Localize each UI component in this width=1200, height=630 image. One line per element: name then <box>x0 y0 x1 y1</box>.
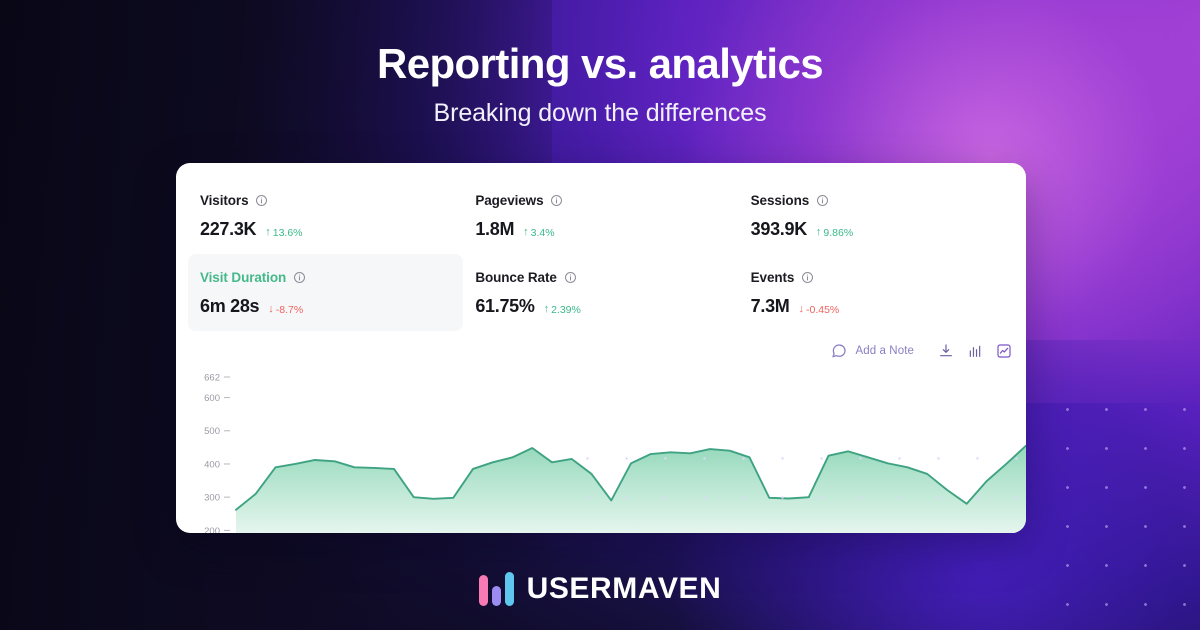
metric-value-row: 6m 28s↓-8.7% <box>200 296 451 317</box>
info-icon[interactable] <box>293 271 306 284</box>
y-axis-tick-label: 662 <box>204 372 220 383</box>
metric-arrow-icon: ↑ <box>265 227 271 238</box>
metric-header: Pageviews <box>475 193 726 208</box>
metric-cell-visitors[interactable]: Visitors227.3K↑13.6% <box>188 177 463 254</box>
metric-delta: ↑3.4% <box>523 227 554 239</box>
info-icon[interactable] <box>255 194 268 207</box>
add-a-note-button[interactable]: Add a Note <box>831 343 914 359</box>
metric-cell-pageviews[interactable]: Pageviews1.8M↑3.4% <box>463 177 738 254</box>
bar-chart-icon[interactable] <box>967 343 983 359</box>
y-axis-tick-label: 200 <box>204 526 220 533</box>
metric-value-row: 1.8M↑3.4% <box>475 219 726 240</box>
metric-value-row: 227.3K↑13.6% <box>200 219 451 240</box>
metric-cell-bounce-rate[interactable]: Bounce Rate61.75%↑2.39% <box>463 254 738 331</box>
metric-delta: ↑2.39% <box>544 304 581 316</box>
metric-delta: ↑9.86% <box>816 227 853 239</box>
header: Reporting vs. analytics Breaking down th… <box>0 0 1200 128</box>
metric-value: 7.3M <box>751 296 790 317</box>
metric-delta: ↓-0.45% <box>798 304 839 316</box>
metric-label: Sessions <box>751 193 809 208</box>
metric-value-row: 7.3M↓-0.45% <box>751 296 1002 317</box>
download-icon[interactable] <box>938 343 954 359</box>
metric-delta-value: 13.6% <box>273 227 303 239</box>
visit-duration-area-chart: 662600500400300200 <box>176 369 1026 533</box>
metric-value-row: 61.75%↑2.39% <box>475 296 726 317</box>
y-axis-tick-label: 600 <box>204 393 220 404</box>
metric-header: Visitors <box>200 193 451 208</box>
logo-wordmark: USERMAVEN <box>527 572 722 606</box>
metric-delta-value: -0.45% <box>806 304 839 316</box>
logo-bar-blue <box>505 572 514 606</box>
metric-label: Pageviews <box>475 193 543 208</box>
logo-bar-pink <box>479 575 488 606</box>
metrics-grid: Visitors227.3K↑13.6%Pageviews1.8M↑3.4%Se… <box>176 163 1026 331</box>
add-a-note-label: Add a Note <box>855 345 914 357</box>
page-title: Reporting vs. analytics <box>0 40 1200 88</box>
y-axis-tick-label: 500 <box>204 426 220 437</box>
metric-value: 393.9K <box>751 219 807 240</box>
metric-value: 6m 28s <box>200 296 259 317</box>
info-icon[interactable] <box>801 271 814 284</box>
chart-area-fill <box>236 446 1026 533</box>
metric-cell-events[interactable]: Events7.3M↓-0.45% <box>739 254 1014 331</box>
chart-area: 662600500400300200 <box>176 369 1026 533</box>
metric-arrow-icon: ↓ <box>268 304 274 315</box>
chart-toolbar: Add a Note <box>176 337 1026 359</box>
metric-header: Sessions <box>751 193 1002 208</box>
y-axis-tick-label: 300 <box>204 493 220 504</box>
page-subtitle: Breaking down the differences <box>0 99 1200 128</box>
metric-label: Bounce Rate <box>475 270 556 285</box>
metric-label: Events <box>751 270 795 285</box>
metric-cell-visit-duration[interactable]: Visit Duration6m 28s↓-8.7% <box>188 254 463 331</box>
chart-action-icons <box>938 343 1012 359</box>
metric-delta: ↓-8.7% <box>268 304 303 316</box>
logo-bar-purple <box>492 586 501 606</box>
metric-cell-sessions[interactable]: Sessions393.9K↑9.86% <box>739 177 1014 254</box>
comment-icon <box>831 343 847 359</box>
usermaven-logo: USERMAVEN <box>0 572 1200 606</box>
metric-value: 227.3K <box>200 219 256 240</box>
metric-delta: ↑13.6% <box>265 227 302 239</box>
logo-bars <box>479 572 514 606</box>
metric-delta-value: 9.86% <box>823 227 853 239</box>
analytics-card: Visitors227.3K↑13.6%Pageviews1.8M↑3.4%Se… <box>176 163 1026 533</box>
metric-delta-value: 2.39% <box>551 304 581 316</box>
metric-arrow-icon: ↑ <box>544 304 550 315</box>
line-chart-icon[interactable] <box>996 343 1012 359</box>
y-axis-tick-label: 400 <box>204 459 220 470</box>
metric-header: Bounce Rate <box>475 270 726 285</box>
metric-delta-value: -8.7% <box>276 304 303 316</box>
metric-arrow-icon: ↑ <box>816 227 822 238</box>
metric-arrow-icon: ↓ <box>798 304 804 315</box>
metric-value-row: 393.9K↑9.86% <box>751 219 1002 240</box>
metric-value: 1.8M <box>475 219 514 240</box>
metric-delta-value: 3.4% <box>531 227 555 239</box>
metric-label: Visitors <box>200 193 248 208</box>
metric-label: Visit Duration <box>200 270 286 285</box>
y-axis-ticks: 662600500400300200 <box>204 372 230 533</box>
metric-value: 61.75% <box>475 296 534 317</box>
metric-header: Visit Duration <box>200 270 451 285</box>
info-icon[interactable] <box>564 271 577 284</box>
metric-arrow-icon: ↑ <box>523 227 529 238</box>
info-icon[interactable] <box>816 194 829 207</box>
metric-header: Events <box>751 270 1002 285</box>
info-icon[interactable] <box>550 194 563 207</box>
